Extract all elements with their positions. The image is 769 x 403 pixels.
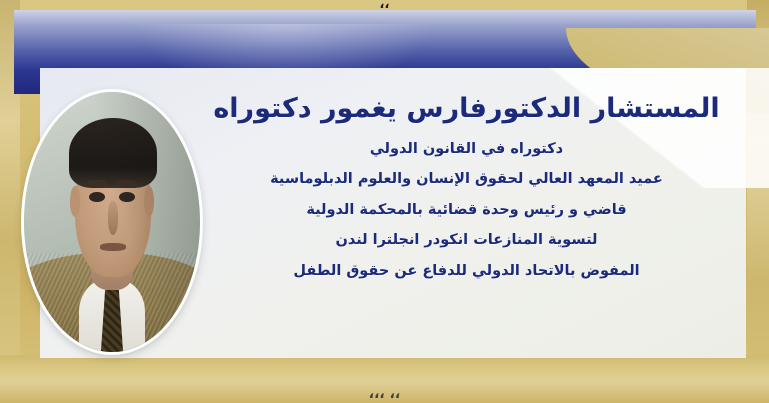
- portrait-nose: [108, 201, 119, 235]
- credential-line-2: عميد المعهد العالي لحقوق الإنسان والعلوم…: [194, 164, 739, 195]
- portrait-hair: [69, 118, 157, 188]
- avatar: [24, 92, 200, 352]
- slide-canvas: المستشار الدكتورفارس يغمور دكتوراه دكتور…: [0, 0, 769, 403]
- bottom-clipped-text-value: ،، ،،،: [369, 392, 400, 402]
- page-title: المستشار الدكتورفارس يغمور دكتوراه: [194, 92, 739, 126]
- credential-line-1: دكتوراه في القانون الدولي: [194, 134, 739, 165]
- credential-line-3: قاضي و رئيس وحدة قضائية بالمحكمة الدولية: [194, 195, 739, 226]
- top-clipped-text: ،،: [0, 0, 769, 8]
- credential-line-5: المفوض بالاتحاد الدولي للدفاع عن حقوق ال…: [194, 256, 739, 287]
- portrait-eyebrow-left: [87, 180, 106, 188]
- credentials-text-block: المستشار الدكتورفارس يغمور دكتوراه دكتور…: [194, 92, 739, 286]
- portrait-ear-left: [70, 186, 81, 217]
- portrait-frame: [24, 92, 200, 352]
- portrait-mouth: [100, 243, 126, 251]
- bottom-clipped-text: ،، ،،،: [0, 392, 769, 403]
- credential-line-4: لتسوية المنازعات انكودر انجلترا لندن: [194, 225, 739, 256]
- portrait-ear-right: [144, 186, 155, 217]
- portrait-eyebrow-right: [117, 180, 136, 188]
- top-clipped-text-value: ،،: [380, 0, 390, 8]
